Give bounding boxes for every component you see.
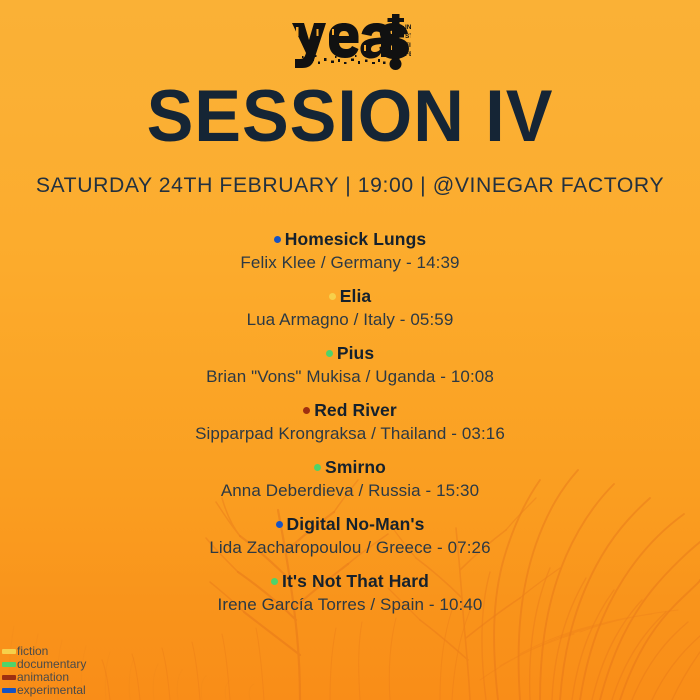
film-meta: Felix Klee / Germany - 14:39 [0,251,700,275]
legend-label: experimental [17,684,86,697]
category-bullet-icon [326,350,333,357]
film-title-row: Pius [0,342,700,365]
category-bullet-icon [329,293,336,300]
film-title: Elia [340,286,372,306]
film-meta: Brian "Vons" Mukisa / Uganda - 10:08 [0,365,700,389]
festival-poster: INT'L STUDENT FILM FESTIVAL SESSION IV S… [0,0,700,700]
film-meta: Lua Armagno / Italy - 05:59 [0,308,700,332]
legend-swatch-icon [2,662,16,667]
event-details: SATURDAY 24TH FEBRUARY | 19:00 | @VINEGA… [5,172,695,198]
page-title: SESSION IV [14,79,686,155]
film-list: Homesick LungsFelix Klee / Germany - 14:… [0,228,700,627]
logo-tagline-line4: FESTIVAL [405,51,411,58]
film-title-row: Homesick Lungs [0,228,700,251]
category-bullet-icon [276,521,283,528]
film-entry: Red RiverSipparpad Krongraksa / Thailand… [0,399,700,446]
logo-tagline-line2: STUDENT [405,33,411,40]
film-title-row: Smirno [0,456,700,479]
category-bullet-icon [314,464,321,471]
film-title: Digital No-Man's [287,514,425,534]
legend-swatch-icon [2,649,16,654]
logo-tagline-line1: INT'L [405,24,411,31]
film-title: Red River [314,400,397,420]
film-entry: It's Not That HardIrene García Torres / … [0,570,700,617]
film-meta: Lida Zacharopoulou / Greece - 07:26 [0,536,700,560]
yeast-logo-svg: INT'L STUDENT FILM FESTIVAL [289,14,411,70]
legend-row: experimental [2,684,152,697]
legend-swatch-icon [2,675,16,680]
film-title: Smirno [325,457,386,477]
logo-tagline-line3: FILM [405,42,411,49]
film-entry: Homesick LungsFelix Klee / Germany - 14:… [0,228,700,275]
film-meta: Sipparpad Krongraksa / Thailand - 03:16 [0,422,700,446]
film-meta: Anna Deberdieva / Russia - 15:30 [0,479,700,503]
festival-logo: INT'L STUDENT FILM FESTIVAL [0,14,700,75]
film-title-row: It's Not That Hard [0,570,700,593]
legend-swatch-icon [2,688,16,693]
film-entry: Digital No-Man'sLida Zacharopoulou / Gre… [0,513,700,560]
category-legend: fictiondocumentaryanimationexperimental [2,645,152,697]
film-title-row: Elia [0,285,700,308]
category-bullet-icon [274,236,281,243]
film-entry: SmirnoAnna Deberdieva / Russia - 15:30 [0,456,700,503]
film-title-row: Digital No-Man's [0,513,700,536]
film-title: Pius [337,343,374,363]
film-title-row: Red River [0,399,700,422]
category-bullet-icon [271,578,278,585]
film-title: Homesick Lungs [285,229,426,249]
film-title: It's Not That Hard [282,571,429,591]
film-entry: PiusBrian "Vons" Mukisa / Uganda - 10:08 [0,342,700,389]
film-entry: EliaLua Armagno / Italy - 05:59 [0,285,700,332]
film-meta: Irene García Torres / Spain - 10:40 [0,593,700,617]
category-bullet-icon [303,407,310,414]
